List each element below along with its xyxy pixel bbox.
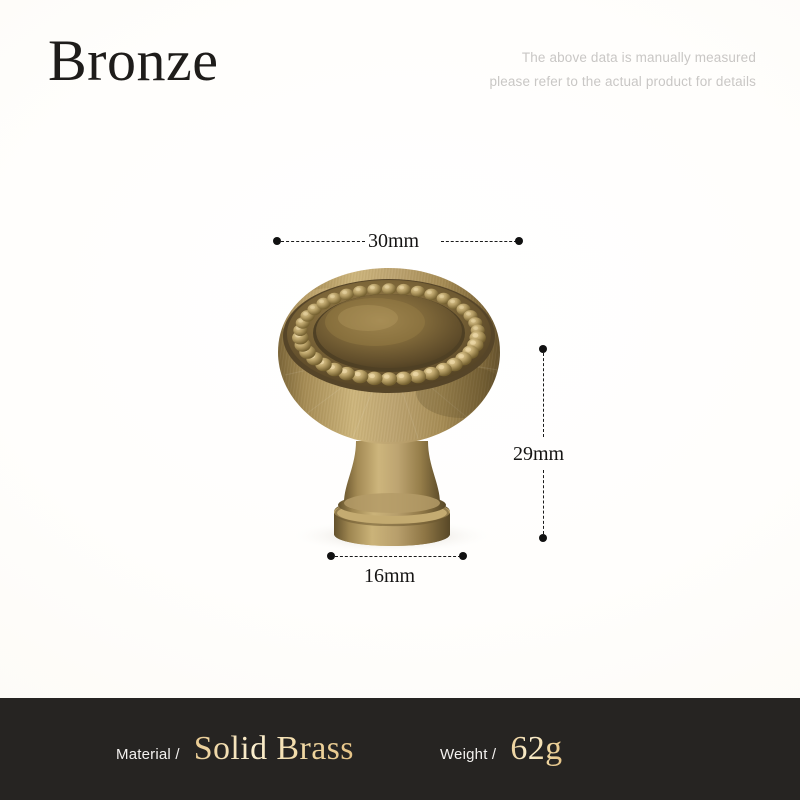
- dimension-width-start-dot: [273, 237, 281, 245]
- spec-material-label: Material /: [116, 746, 180, 763]
- disclaimer-text: The above data is manually measured plea…: [489, 46, 756, 94]
- product-image: [0, 0, 800, 700]
- dimension-base-start-dot: [327, 552, 335, 560]
- beaded-ring: [292, 283, 486, 385]
- spec-weight-label: Weight /: [440, 746, 496, 763]
- spec-weight-value: 62g: [510, 730, 562, 768]
- dimension-height-end-dot: [539, 534, 547, 542]
- disclaimer-line-2: please refer to the actual product for d…: [489, 70, 756, 94]
- dimension-width-label: 30mm: [368, 230, 419, 253]
- spec-footer-bar: Material / Solid Brass Weight / 62g: [0, 698, 800, 800]
- dimension-height-line-top: [543, 353, 544, 437]
- dimension-height-line-bottom: [543, 470, 544, 534]
- dimension-base-end-dot: [459, 552, 467, 560]
- dimension-height-start-dot: [539, 345, 547, 353]
- dimension-base-line: [335, 556, 461, 557]
- spec-material-value: Solid Brass: [194, 730, 354, 768]
- dimension-width-line-right: [441, 241, 517, 242]
- page-title: Bronze: [48, 32, 219, 90]
- spec-material: Material / Solid Brass: [116, 730, 354, 768]
- product-spec-page: Bronze The above data is manually measur…: [0, 0, 800, 800]
- disclaimer-line-1: The above data is manually measured: [489, 46, 756, 70]
- spec-weight: Weight / 62g: [440, 730, 563, 768]
- dimension-height-label: 29mm: [513, 443, 564, 466]
- dimension-width-line-left: [281, 241, 365, 242]
- dimension-base-label: 16mm: [364, 565, 415, 588]
- dimension-width-end-dot: [515, 237, 523, 245]
